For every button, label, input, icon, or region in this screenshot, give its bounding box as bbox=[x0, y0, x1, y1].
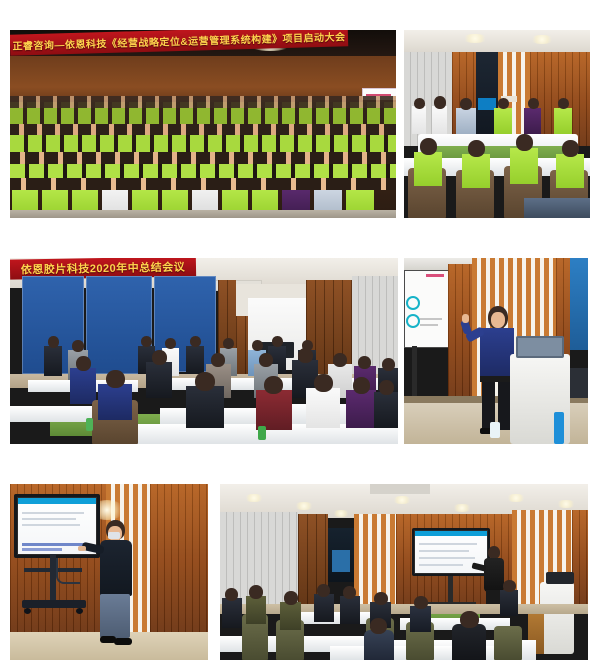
photo-collage: 正睿咨询—依恩科技《经营战略定位&运营管理系统构建》项目启动大会 bbox=[0, 0, 600, 666]
photo-boardroom-discussion[interactable] bbox=[404, 30, 590, 218]
photo-midyear-summary-audience[interactable]: 依恩胶片科技2020年中总结会议 bbox=[10, 258, 398, 444]
photo-group-kickoff-ceremony[interactable]: 正睿咨询—依恩科技《经营战略定位&运营管理系统构建》项目启动大会 bbox=[10, 30, 396, 218]
crowd-group bbox=[10, 30, 396, 218]
photo-speaker-at-podium[interactable] bbox=[404, 258, 588, 444]
photo-training-classroom-wide[interactable] bbox=[220, 484, 588, 660]
lectern bbox=[540, 582, 574, 654]
photo-whiteboard-presentation[interactable] bbox=[10, 484, 208, 660]
